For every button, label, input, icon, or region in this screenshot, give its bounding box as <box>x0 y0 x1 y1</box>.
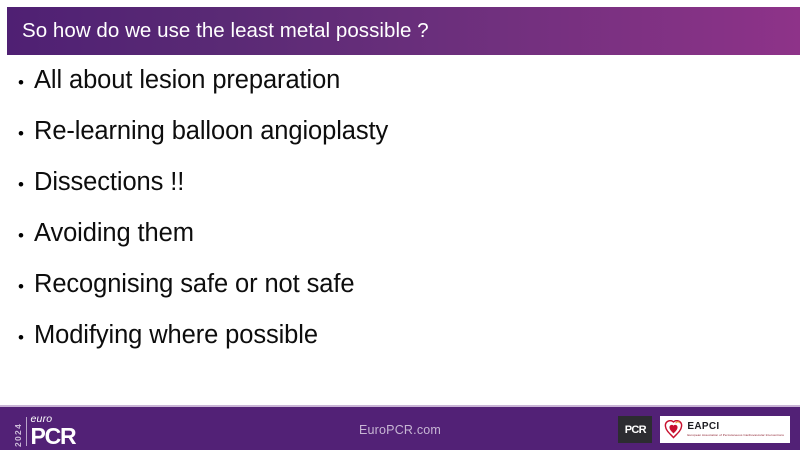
list-item: • All about lesion preparation <box>0 66 760 117</box>
eapci-subtitle-label: European Association of Percutaneous Car… <box>687 434 784 437</box>
europcr-logo: 2024 euro PCR <box>14 414 75 447</box>
logo-wordmark: euro PCR <box>31 414 76 447</box>
bullet-marker-icon: • <box>18 125 34 142</box>
bullet-marker-icon: • <box>18 329 34 346</box>
logo-pcr-label: PCR <box>31 426 76 447</box>
list-item-label: Dissections !! <box>34 168 184 197</box>
bullet-list: • All about lesion preparation • Re-lear… <box>0 66 760 372</box>
list-item: • Avoiding them <box>0 219 760 270</box>
heart-icon <box>664 420 683 439</box>
list-item: • Recognising safe or not safe <box>0 270 760 321</box>
pcr-badge-logo: PCR <box>618 416 652 443</box>
list-item-label: All about lesion preparation <box>34 66 340 95</box>
bullet-marker-icon: • <box>18 74 34 91</box>
list-item: • Dissections !! <box>0 168 760 219</box>
slide-footer-bar: EuroPCR.com 2024 euro PCR PCR EAPCI Euro… <box>0 405 800 450</box>
slide-canvas: So how do we use the least metal possibl… <box>0 0 800 450</box>
bullet-marker-icon: • <box>18 176 34 193</box>
list-item-label: Recognising safe or not safe <box>34 270 354 299</box>
logo-year-label: 2024 <box>14 416 23 447</box>
logo-divider <box>26 417 27 446</box>
eapci-logo: EAPCI European Association of Percutaneo… <box>660 416 790 443</box>
footer-partner-logos: PCR EAPCI European Association of Percut… <box>618 414 790 445</box>
bullet-marker-icon: • <box>18 278 34 295</box>
bullet-marker-icon: • <box>18 227 34 244</box>
list-item-label: Avoiding them <box>34 219 194 248</box>
eapci-name-label: EAPCI <box>687 422 784 432</box>
page-title: So how do we use the least metal possibl… <box>7 19 429 43</box>
slide-title-band: So how do we use the least metal possibl… <box>7 7 800 55</box>
list-item-label: Re-learning balloon angioplasty <box>34 117 388 146</box>
list-item-label: Modifying where possible <box>34 321 318 350</box>
list-item: • Re-learning balloon angioplasty <box>0 117 760 168</box>
list-item: • Modifying where possible <box>0 321 760 372</box>
eapci-wordmark: EAPCI European Association of Percutaneo… <box>687 422 784 437</box>
